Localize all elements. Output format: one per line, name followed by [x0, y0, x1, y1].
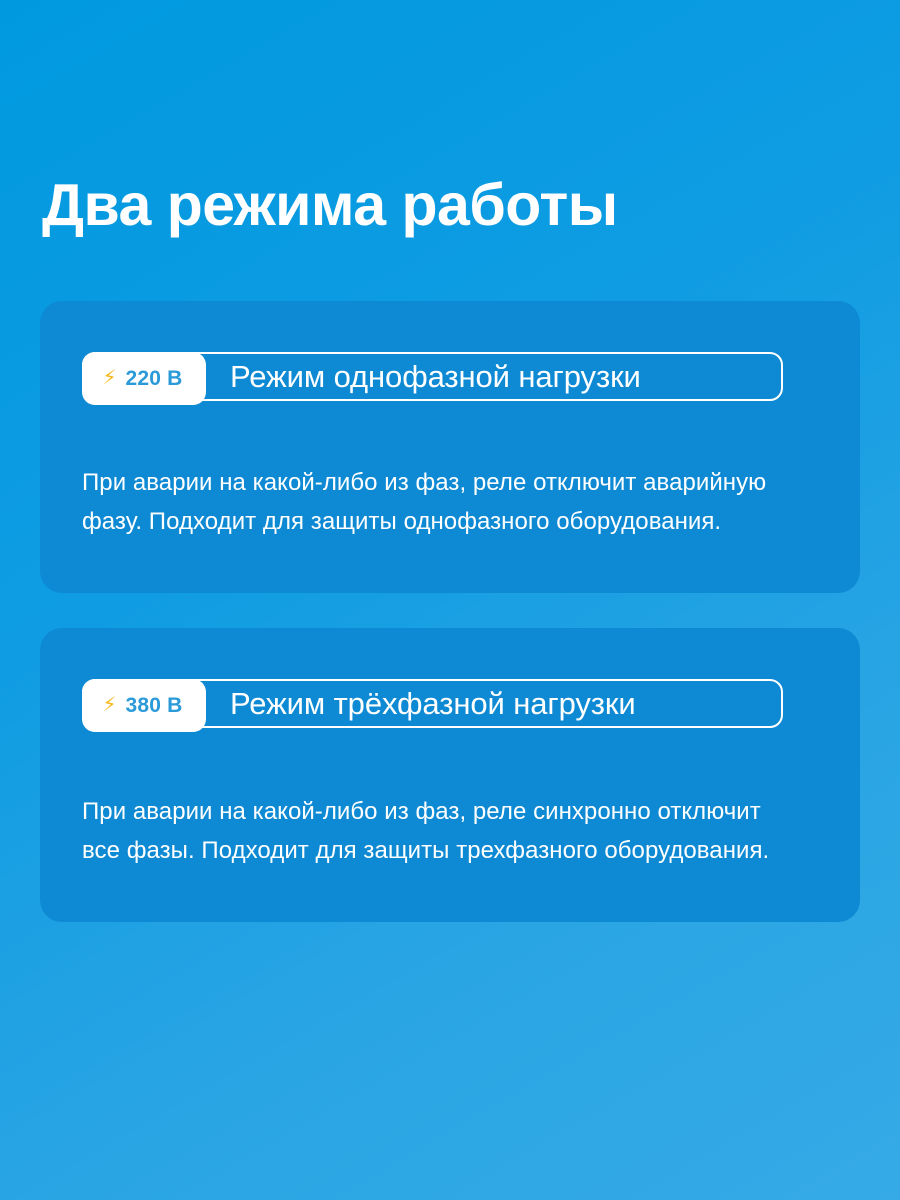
mode-title: Режим трёхфазной нагрузки	[230, 688, 636, 719]
voltage-badge-220v: ⚡ 220 В	[82, 352, 206, 405]
mode-description: При аварии на какой-либо из фаз, реле си…	[82, 792, 802, 870]
high-voltage-icon: ⚡	[102, 695, 116, 715]
mode-card-380v: ⚡ 380 В Режим трёхфазной нагрузки При ав…	[40, 628, 860, 922]
slide-root: Два режима работы ⚡ 220 В Режим однофазн…	[0, 0, 900, 1200]
mode-card-220v: ⚡ 220 В Режим однофазной нагрузки При ав…	[40, 301, 860, 593]
voltage-badge-label: 220 В	[126, 368, 183, 389]
mode-header-380v: ⚡ 380 В Режим трёхфазной нагрузки	[82, 679, 783, 728]
voltage-badge-label: 380 В	[126, 695, 183, 716]
mode-title: Режим однофазной нагрузки	[230, 361, 641, 392]
mode-description: При аварии на какой-либо из фаз, реле от…	[82, 463, 822, 541]
high-voltage-icon: ⚡	[102, 368, 116, 388]
page-title: Два режима работы	[42, 170, 842, 240]
mode-header-220v: ⚡ 220 В Режим однофазной нагрузки	[82, 352, 783, 401]
voltage-badge-380v: ⚡ 380 В	[82, 679, 206, 732]
